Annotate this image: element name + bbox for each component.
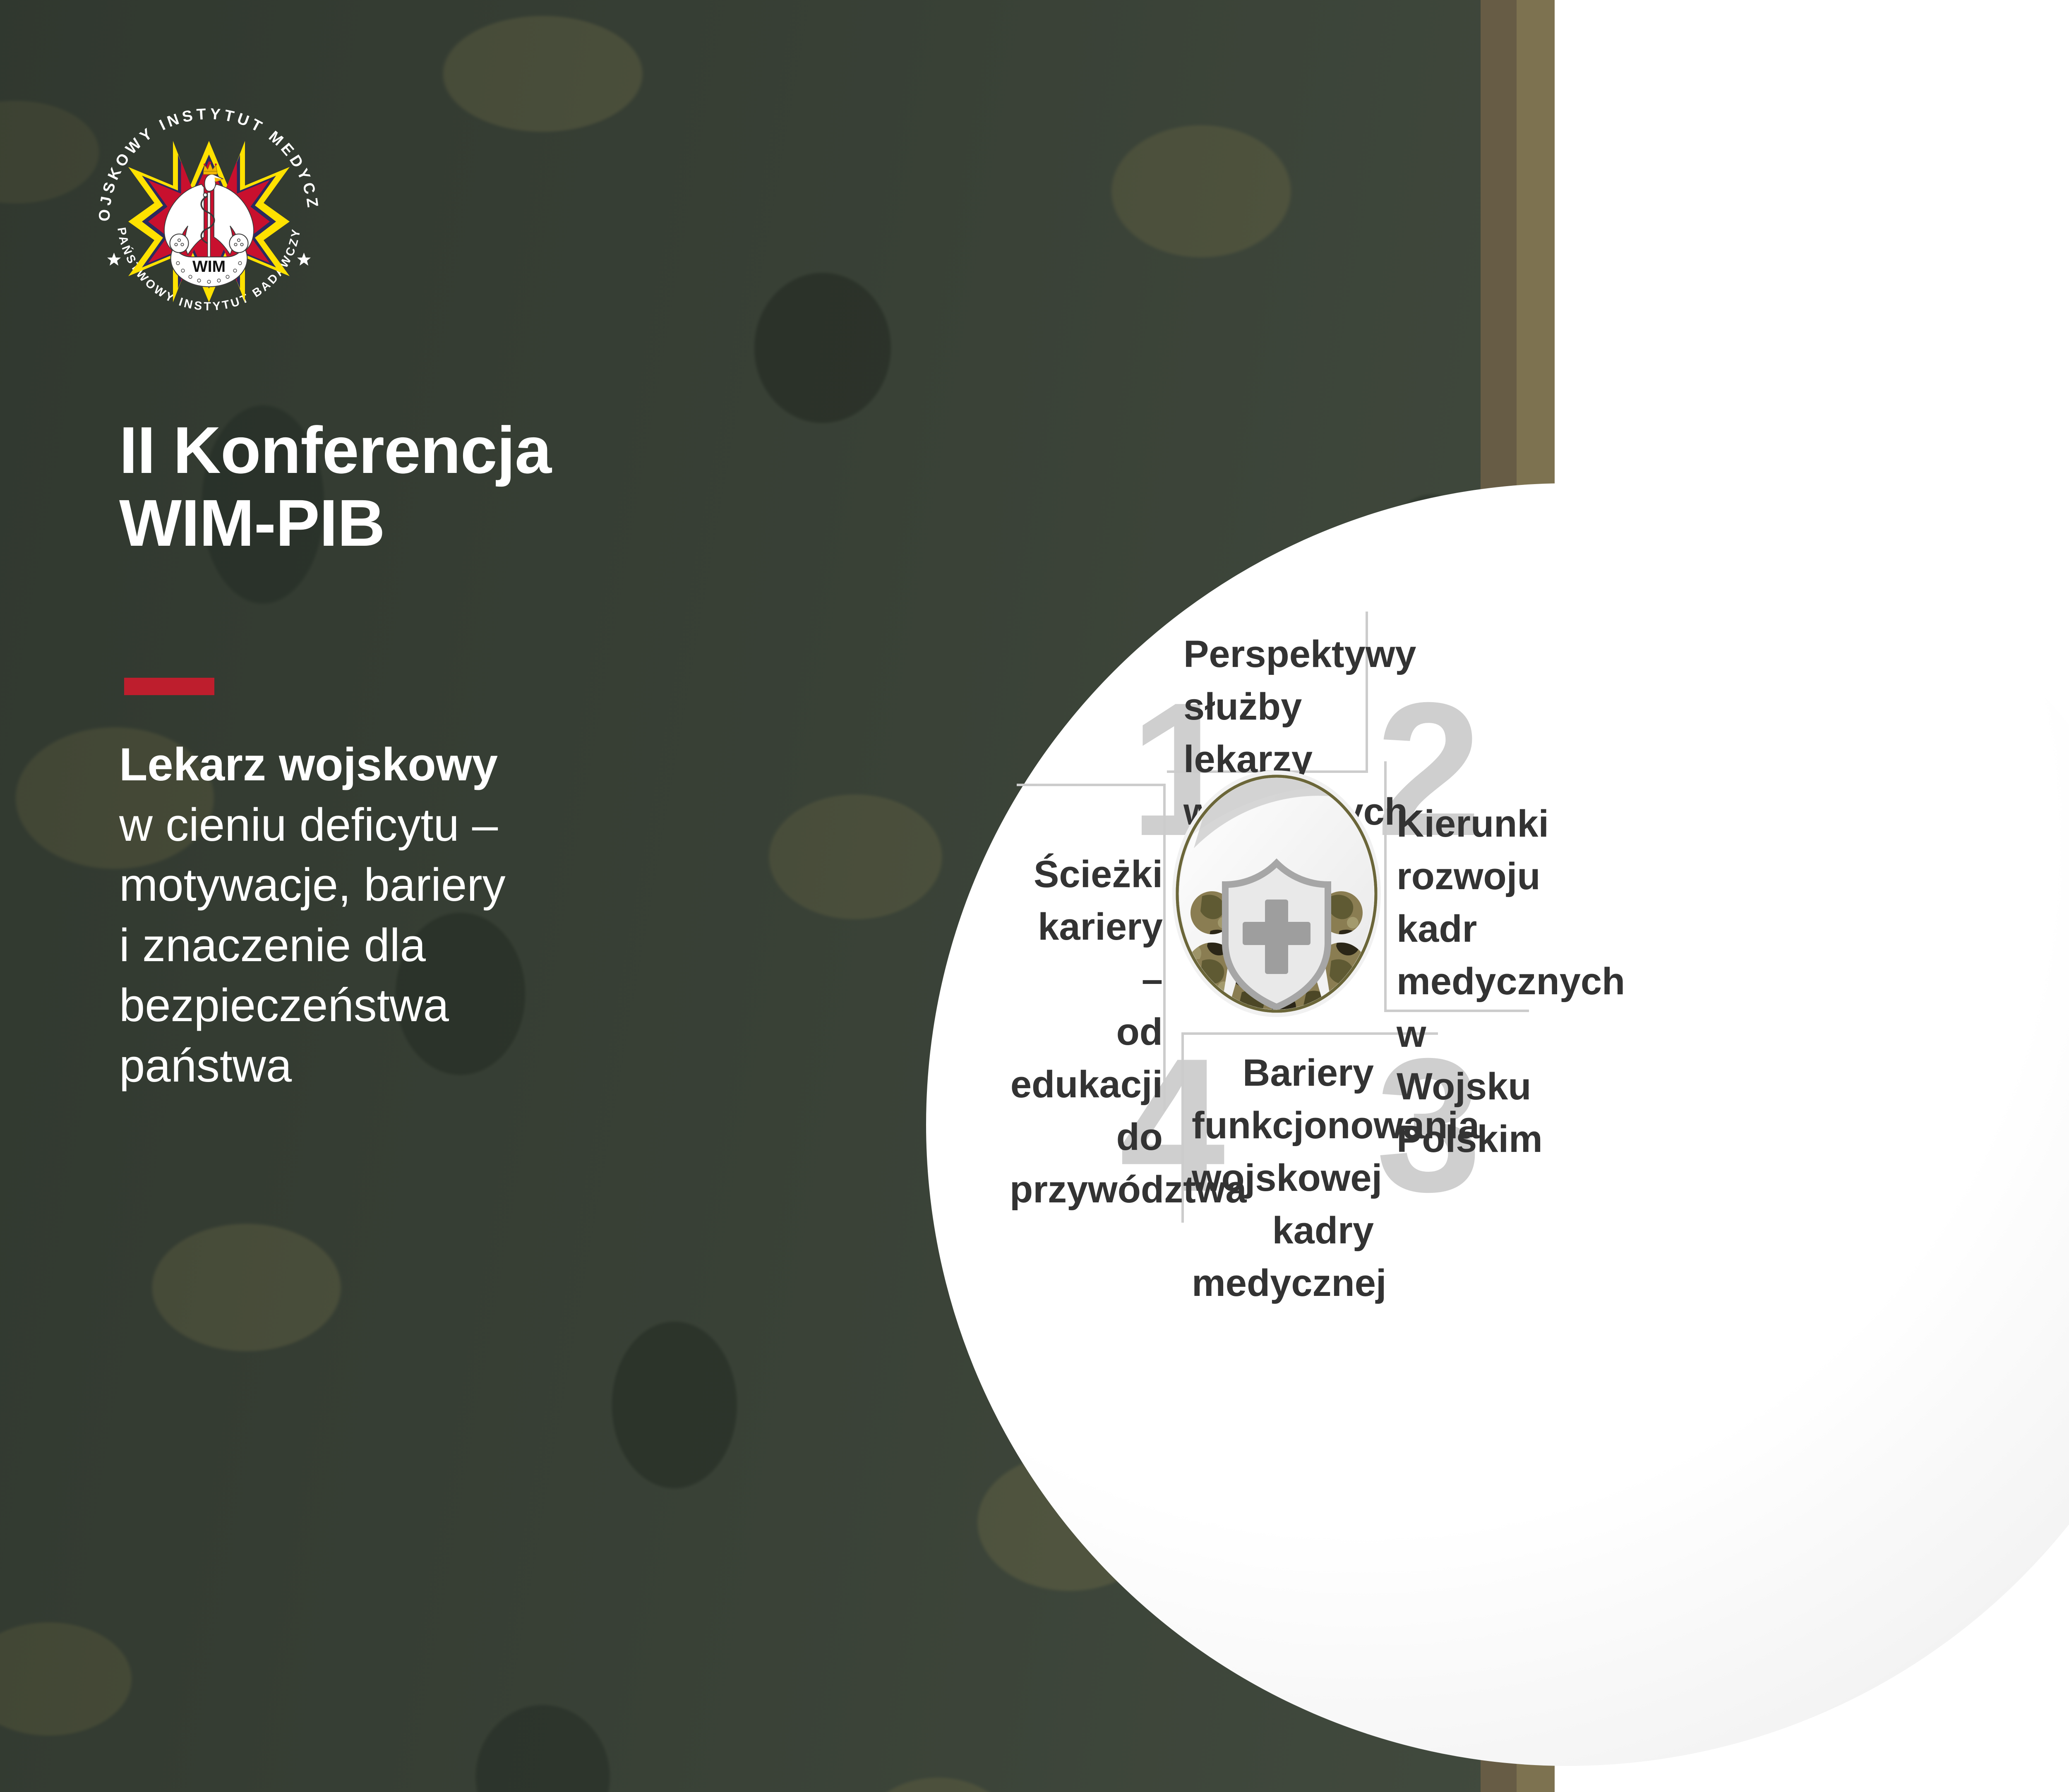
topic-label-4: Ścieżki kariery – od edukacji do przywód…: [1010, 848, 1163, 1216]
topics-diagram: 1 2 3 4 Perspektywy służby lekarzy wojsk…: [993, 579, 2069, 1655]
subtitle-block: Lekarz wojskowy w cieniu deficytu – moty…: [119, 734, 823, 1096]
subtitle-rest: w cieniu deficytu – motywacje, bariery i…: [119, 795, 823, 1096]
topic-4-bracket-vertical: [1163, 784, 1166, 1111]
logo-center-text: WIM: [192, 258, 226, 276]
wim-pib-logo: WOJSKOWY INSTYTUT MEDYCZNY PAŃSTWOWY INS…: [85, 94, 333, 343]
red-accent-bar: [124, 678, 214, 695]
page-title: II Konferencja WIM-PIB: [119, 414, 1071, 559]
center-emblem: [1169, 765, 1384, 1022]
poster-slide: WOJSKOWY INSTYTUT MEDYCZNY PAŃSTWOWY INS…: [0, 0, 2069, 1792]
topic-4-bracket-horizontal: [1017, 784, 1166, 786]
subtitle-lead: Lekarz wojskowy: [119, 734, 823, 795]
